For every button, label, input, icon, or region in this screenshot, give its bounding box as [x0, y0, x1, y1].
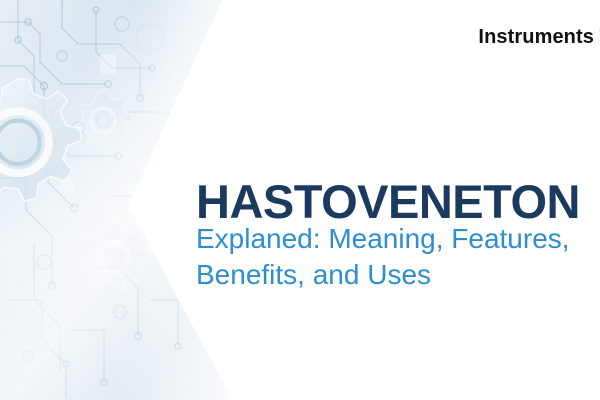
- page-title: HASTOVENETON: [196, 177, 600, 226]
- gear-medium-icon: [76, 91, 132, 148]
- page-subtitle-line-2: Benefits, and Uses: [196, 257, 600, 293]
- gear-small-icon: [83, 223, 149, 290]
- article-hero-banner: Instruments Tools HASTOVENETON Explaned:…: [0, 0, 600, 400]
- page-subtitle-line-1: Explaned: Meaning, Features,: [196, 221, 600, 257]
- site-brand-label: Instruments Tools: [478, 26, 600, 49]
- site-brand: Instruments Tools: [0, 26, 600, 49]
- page-subtitle: Explaned: Meaning, Features, Benefits, a…: [196, 221, 600, 293]
